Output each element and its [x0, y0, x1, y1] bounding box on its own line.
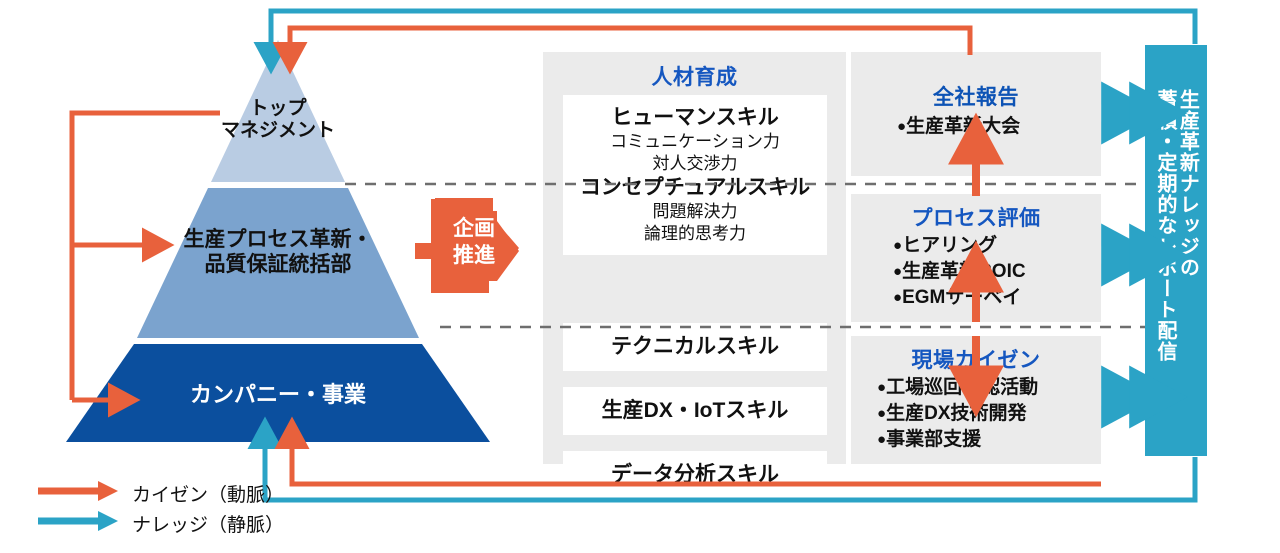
- legend-row-kaizen: カイゼン（動脈）: [36, 478, 296, 508]
- legend-arrow-teal-icon: [36, 508, 122, 534]
- orange-bottom-return-line: [292, 443, 1101, 484]
- orange-top-feedback-line: [290, 28, 970, 55]
- teal-bottom-return-line: [265, 443, 1195, 500]
- diagram-canvas: トップ マネジメント 生産プロセス革新・ 品質保証統括部 カンパニー・事業 企画…: [0, 0, 1280, 553]
- legend-row-knowledge: ナレッジ（静脈）: [36, 508, 296, 538]
- legend-label: カイゼン（動脈）: [132, 480, 284, 507]
- connector-arrows: [0, 0, 1280, 553]
- legend-arrow-orange-icon: [36, 478, 122, 504]
- orange-left-trunk: [72, 113, 220, 400]
- legend: カイゼン（動脈） ナレッジ（静脈）: [36, 478, 296, 548]
- legend-label: ナレッジ（静脈）: [132, 510, 284, 537]
